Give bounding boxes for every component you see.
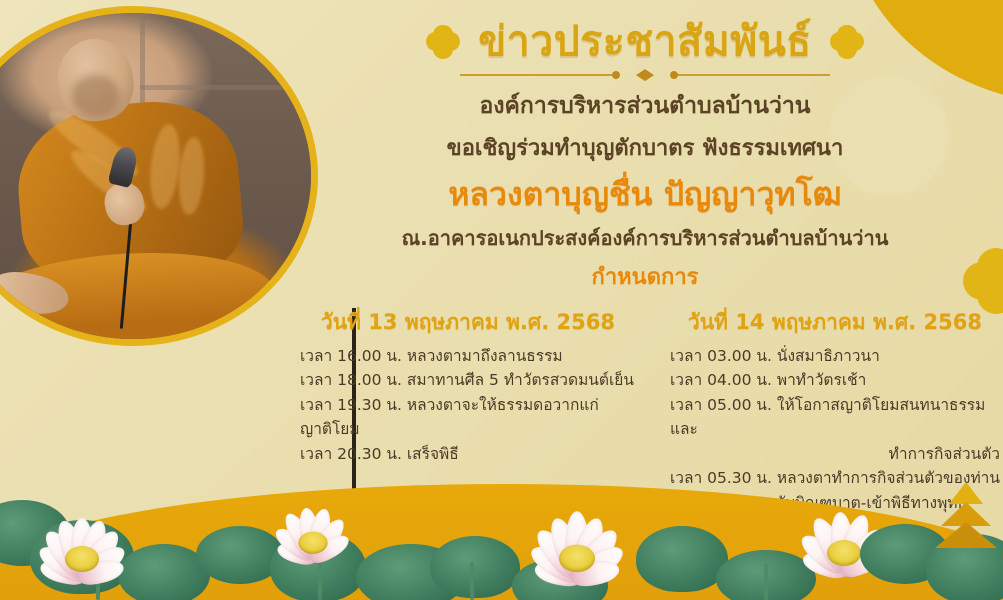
lotus-flower bbox=[266, 501, 361, 558]
quatrefoil-icon bbox=[426, 25, 460, 59]
lotus-flower bbox=[508, 492, 646, 577]
day1-date-title: วันที่ 13 พฤษภาคม พ.ศ. 2568 bbox=[300, 306, 636, 339]
poster-header: ข่าวประชาสัมพันธ์ องค์การบริหารส่วนตำบลบ… bbox=[300, 18, 990, 294]
pagoda-icon bbox=[935, 478, 997, 548]
schedule-item: เวลา 19.30 น. หลวงตาจะให้ธรรมดอวากแก่ญาต… bbox=[300, 393, 636, 442]
day2-date-title: วันที่ 14 พฤษภาคม พ.ศ. 2568 bbox=[670, 306, 1000, 339]
lotus-flower bbox=[22, 504, 142, 576]
schedule-item: เวลา 03.00 น. นั่งสมาธิภาวนา bbox=[670, 344, 1000, 368]
ornamental-divider-icon bbox=[460, 68, 830, 82]
invitation-line: ขอเชิญร่วมทำบุญตักบาตร ฟังธรรมเทศนา bbox=[300, 131, 990, 166]
announcement-poster: ข่าวประชาสัมพันธ์ องค์การบริหารส่วนตำบลบ… bbox=[0, 0, 1003, 600]
schedule-column-day1: วันที่ 13 พฤษภาคม พ.ศ. 2568 เวลา 16.00 น… bbox=[300, 306, 652, 466]
schedule-item: เวลา 05.00 น. ให้โอกาสญาติโยมสนทนาธรรมแล… bbox=[670, 393, 1000, 442]
organization-name: องค์การบริหารส่วนตำบลบ้านว่าน bbox=[300, 89, 990, 124]
title-row: ข่าวประชาสัมพันธ์ bbox=[300, 18, 990, 65]
schedule-item: เวลา 18.00 น. สมาทานศีล 5 ทำวัตรสวดมนต์เ… bbox=[300, 368, 636, 392]
schedule-item: เวลา 20.30 น. เสร็จพิธี bbox=[300, 442, 636, 466]
monk-portrait-photo bbox=[0, 6, 318, 346]
agenda-heading: กำหนดการ bbox=[300, 259, 990, 294]
venue-line: ณ.อาคารอเนกประสงค์องค์การบริหารส่วนตำบลบ… bbox=[300, 223, 990, 253]
monk-name: หลวงตาบุญชื่น ปัญญาวุทโฒ bbox=[300, 172, 990, 217]
schedule-item: เวลา 16.00 น. หลวงตามาถึงลานธรรม bbox=[300, 344, 636, 368]
page-title: ข่าวประชาสัมพันธ์ bbox=[478, 18, 812, 65]
schedule-item: ทำการกิจส่วนตัว bbox=[670, 442, 1000, 466]
schedule-item: เวลา 04.00 น. พาทำวัตรเช้า bbox=[670, 368, 1000, 392]
day1-items: เวลา 16.00 น. หลวงตามาถึงลานธรรม เวลา 18… bbox=[300, 344, 636, 466]
quatrefoil-icon bbox=[830, 25, 864, 59]
